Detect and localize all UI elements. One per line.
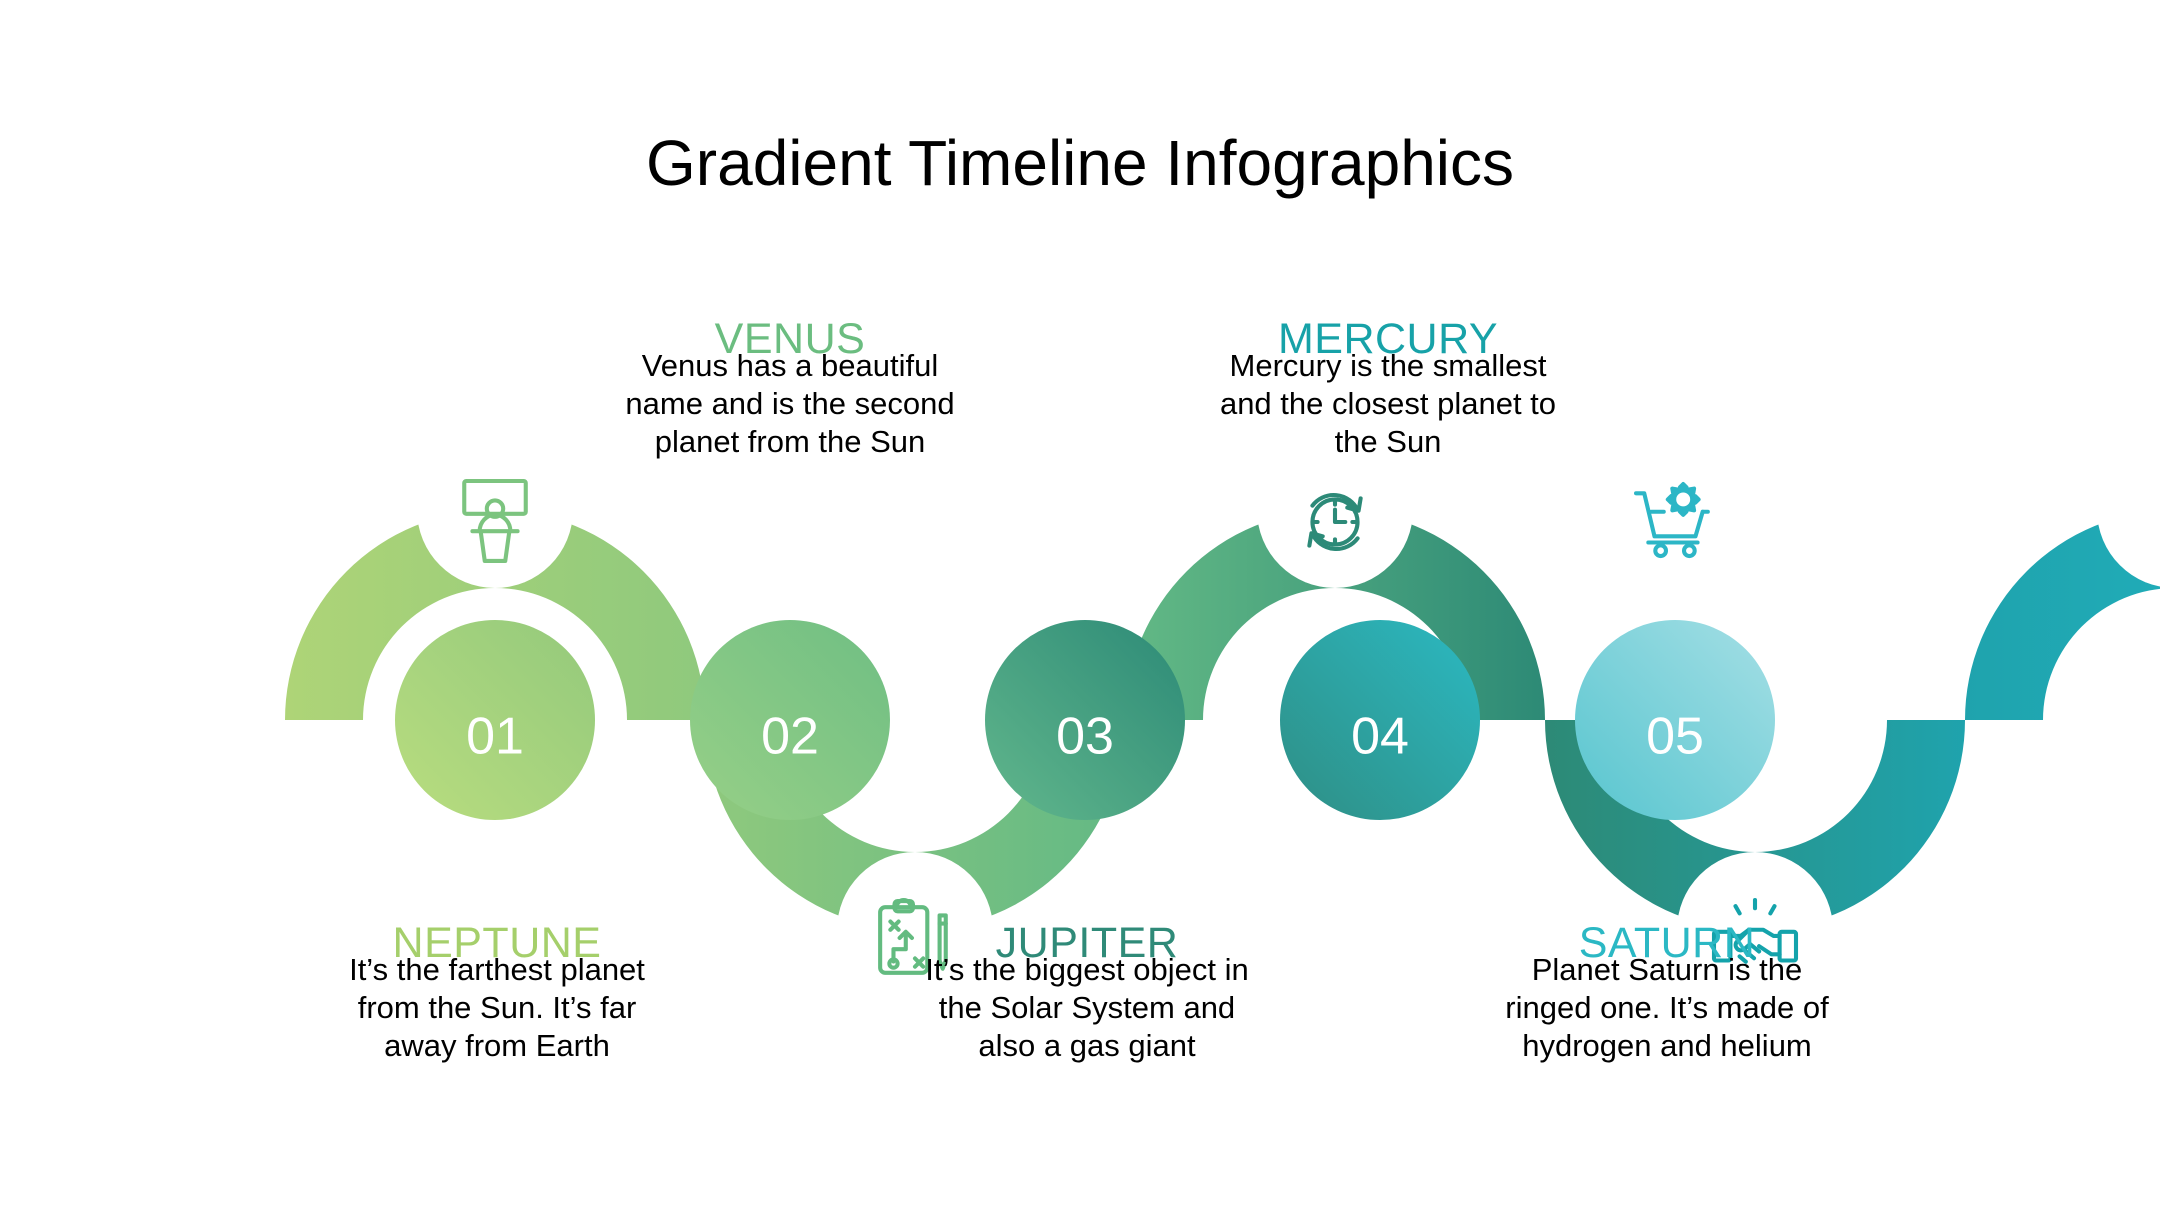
step-number-1: 01: [466, 708, 524, 766]
step-body-neptune: It’s the farthest planet from the Sun. I…: [327, 951, 667, 1064]
step-body-jupiter: It’s the biggest object in the Solar Sys…: [917, 951, 1257, 1064]
step-number-4: 04: [1351, 708, 1409, 766]
step-text-neptune: NEPTUNE It’s the farthest planet from th…: [327, 922, 667, 1064]
clock-refresh-icon[interactable]: [1309, 495, 1360, 549]
step-number-3: 03: [1056, 708, 1114, 766]
slide-canvas: Gradient Timeline Infographics: [0, 0, 2160, 1215]
step-text-mercury: MERCURY Mercury is the smallest and the …: [1218, 318, 1558, 460]
notch-1: [417, 432, 573, 588]
step-body-venus: Venus has a beautiful name and is the se…: [620, 347, 960, 460]
step-body-mercury: Mercury is the smallest and the closest …: [1218, 347, 1558, 460]
step-text-saturn: SATURN Planet Saturn is the ringed one. …: [1497, 922, 1837, 1064]
step-text-venus: VENUS Venus has a beautiful name and is …: [620, 318, 960, 460]
step-number-2: 02: [761, 708, 819, 766]
step-text-jupiter: JUPITER It’s the biggest object in the S…: [917, 922, 1257, 1064]
step-number-5: 05: [1646, 708, 1704, 766]
step-body-saturn: Planet Saturn is the ringed one. It’s ma…: [1497, 951, 1837, 1064]
